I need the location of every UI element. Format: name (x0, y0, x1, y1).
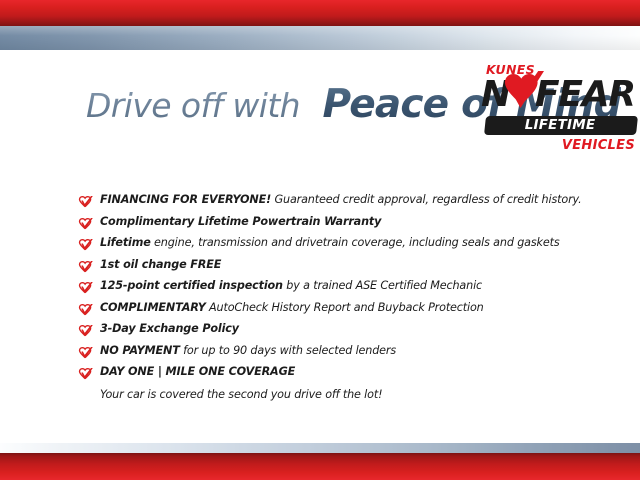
heart-check-icon (78, 238, 94, 253)
heart-check-icon (78, 217, 94, 232)
benefit-text-rest: by a trained ASE Certified Mechanic (283, 279, 482, 292)
headline-line-1: Drive off with (86, 89, 300, 122)
benefit-text: COMPLIMENTARY AutoCheck History Report a… (100, 301, 484, 315)
logo-word-fear: FEAR (535, 74, 635, 115)
banner-body: Drive off with Peace of Mind KUNES NFEAR… (0, 50, 640, 443)
benefit-text: Complimentary Lifetime Powertrain Warran… (100, 215, 381, 229)
benefit-subtext: Your car is covered the second you drive… (100, 387, 598, 402)
benefits-list: FINANCING FOR EVERYONE! Guaranteed credi… (78, 193, 598, 406)
benefit-item: 1st oil change FREE (78, 258, 598, 275)
benefit-row: COMPLIMENTARY AutoCheck History Report a… (78, 301, 598, 318)
benefit-text: DAY ONE | MILE ONE COVERAGE (100, 365, 295, 379)
benefit-text-rest: Guaranteed credit approval, regardless o… (271, 193, 581, 206)
top-gray-stripe (0, 26, 640, 50)
heart-check-icon (78, 324, 94, 339)
logo-vehicles-text: VEHICLES (562, 138, 635, 153)
heart-check-icon (78, 281, 94, 296)
heart-check-icon (78, 324, 94, 339)
promo-banner: Drive off with Peace of Mind KUNES NFEAR… (0, 0, 640, 480)
benefit-text: 125-point certified inspection by a trai… (100, 279, 482, 293)
benefit-text: 1st oil change FREE (100, 258, 221, 272)
heart-check-icon (78, 303, 94, 318)
benefit-text-bold: 3-Day Exchange Policy (100, 322, 239, 335)
benefit-text-rest: for up to 90 days with selected lenders (180, 344, 396, 357)
benefit-text-bold: Lifetime (100, 236, 151, 249)
bottom-gray-stripe (0, 443, 640, 453)
benefit-text-bold: FINANCING FOR EVERYONE! (100, 193, 271, 206)
benefit-item: COMPLIMENTARY AutoCheck History Report a… (78, 301, 598, 318)
benefit-text-rest: engine, transmission and drivetrain cove… (151, 236, 560, 249)
benefit-row: 125-point certified inspection by a trai… (78, 279, 598, 296)
heart-check-icon (78, 195, 94, 210)
benefit-text: NO PAYMENT for up to 90 days with select… (100, 344, 396, 358)
heart-check-icon (78, 346, 94, 361)
benefit-text-bold: NO PAYMENT (100, 344, 180, 357)
benefit-item: Complimentary Lifetime Powertrain Warran… (78, 215, 598, 232)
benefit-row: Lifetime engine, transmission and drivet… (78, 236, 598, 253)
benefit-text-bold: 125-point certified inspection (100, 279, 283, 292)
benefit-row: 1st oil change FREE (78, 258, 598, 275)
benefit-item: FINANCING FOR EVERYONE! Guaranteed credi… (78, 193, 598, 210)
heart-check-icon (78, 303, 94, 318)
benefit-row: 3-Day Exchange Policy (78, 322, 598, 339)
benefit-text-bold: DAY ONE | MILE ONE COVERAGE (100, 365, 295, 378)
benefit-row: Complimentary Lifetime Powertrain Warran… (78, 215, 598, 232)
bottom-red-stripe (0, 453, 640, 480)
heart-check-icon (78, 238, 94, 253)
benefit-text: 3-Day Exchange Policy (100, 322, 239, 336)
heart-check-icon (78, 281, 94, 296)
heart-check-icon (78, 346, 94, 361)
benefit-item: 3-Day Exchange Policy (78, 322, 598, 339)
benefit-item: Lifetime engine, transmission and drivet… (78, 236, 598, 253)
heart-check-icon (78, 367, 94, 382)
benefit-row: NO PAYMENT for up to 90 days with select… (78, 344, 598, 361)
benefit-row: FINANCING FOR EVERYONE! Guaranteed credi… (78, 193, 598, 210)
heart-check-icon (78, 217, 94, 232)
heart-check-icon (78, 260, 94, 275)
benefit-item: DAY ONE | MILE ONE COVERAGEYour car is c… (78, 365, 598, 402)
benefit-item: 125-point certified inspection by a trai… (78, 279, 598, 296)
kunes-no-fear-logo: KUNES NFEAR LIFETIME CERTIFIED VEHICLES (481, 62, 637, 155)
benefit-text: Lifetime engine, transmission and drivet… (100, 236, 560, 250)
heart-check-icon (78, 195, 94, 210)
benefit-text: FINANCING FOR EVERYONE! Guaranteed credi… (100, 193, 582, 207)
heart-check-icon (78, 367, 94, 382)
logo-lifetime-banner: LIFETIME CERTIFIED (484, 116, 638, 135)
logo-nofear-wordmark: NFEAR (481, 74, 637, 114)
benefit-item: NO PAYMENT for up to 90 days with select… (78, 344, 598, 361)
heart-check-icon (78, 260, 94, 275)
benefit-text-rest: AutoCheck History Report and Buyback Pro… (206, 301, 484, 314)
heart-check-icon (503, 70, 545, 114)
benefit-row: DAY ONE | MILE ONE COVERAGE (78, 365, 598, 382)
benefit-text-bold: COMPLIMENTARY (100, 301, 206, 314)
benefit-text-bold: 1st oil change FREE (100, 258, 221, 271)
benefit-text-bold: Complimentary Lifetime Powertrain Warran… (100, 215, 381, 228)
top-red-stripe (0, 0, 640, 26)
